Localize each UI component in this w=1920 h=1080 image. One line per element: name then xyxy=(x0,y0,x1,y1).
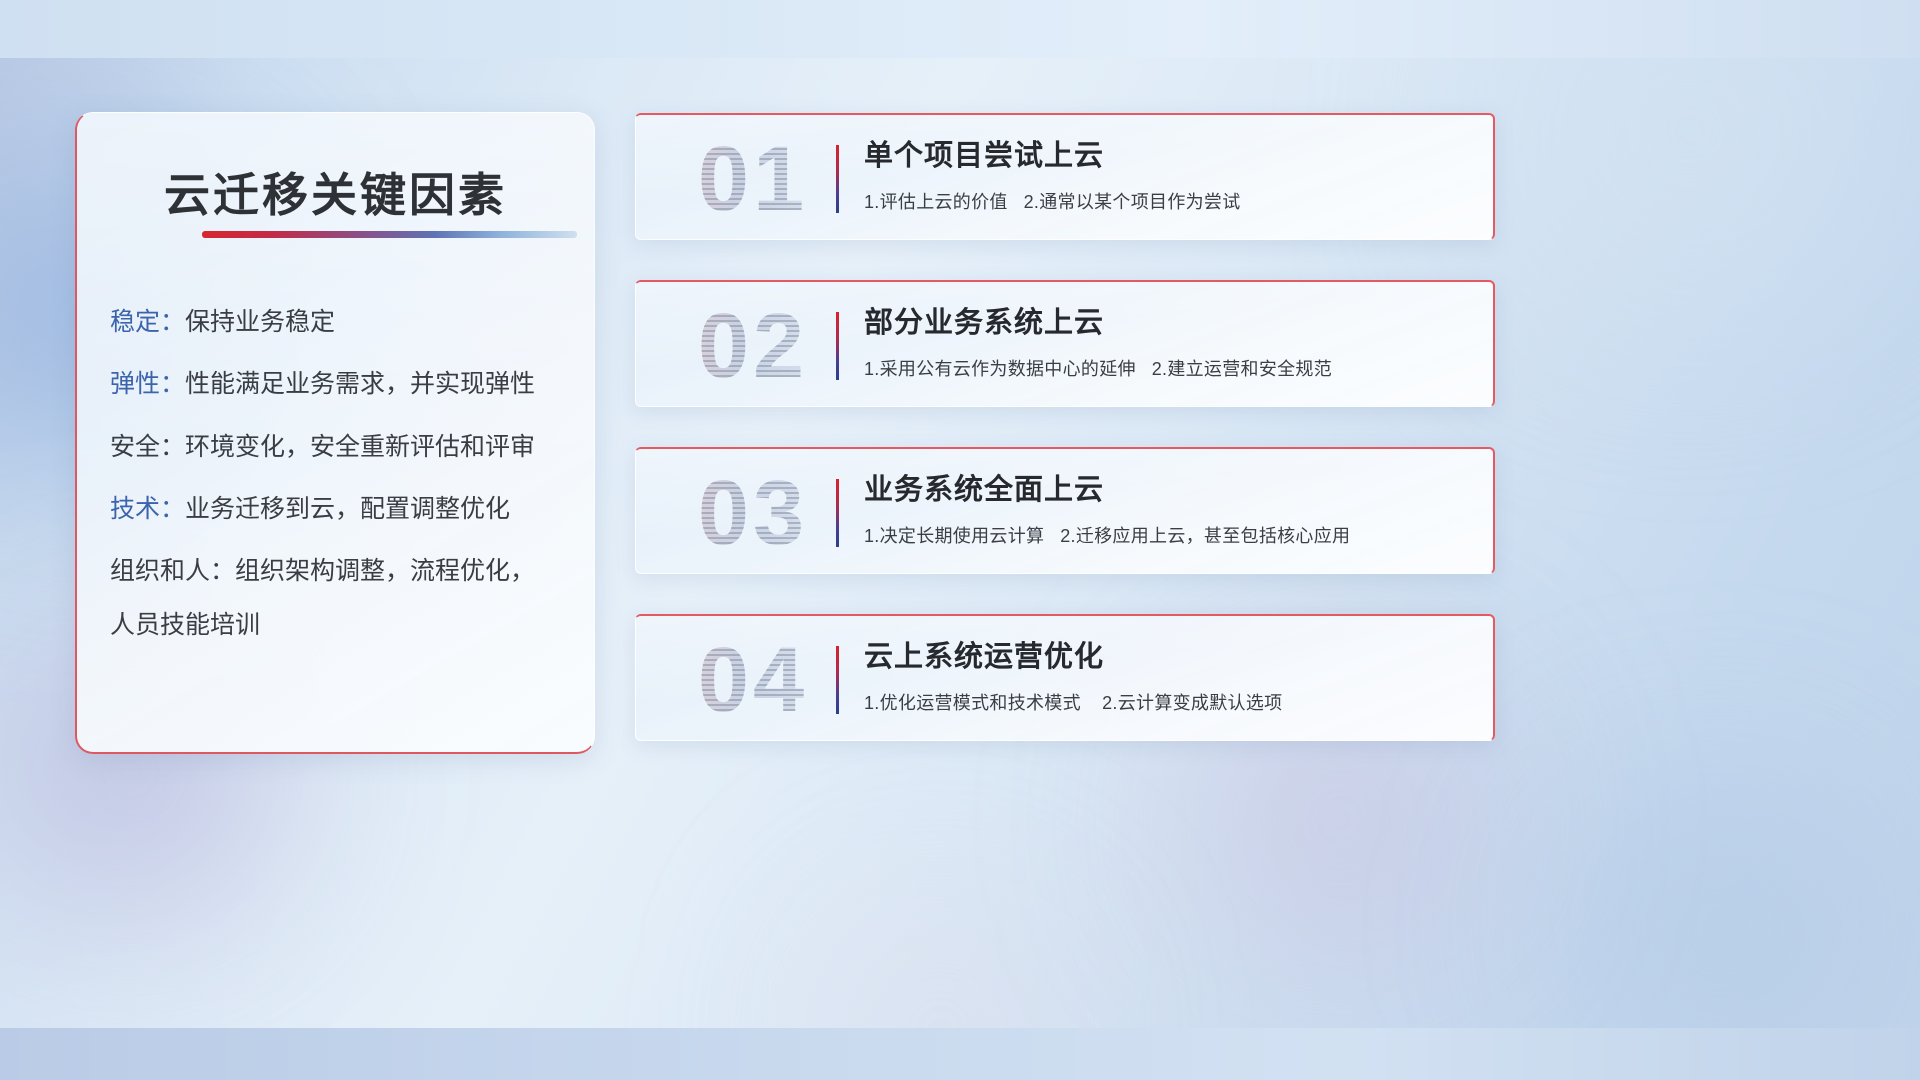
card-body: 部分业务系统上云 1.采用公有云作为数据中心的延伸 2.建立运营和安全规范 xyxy=(864,306,1473,381)
stage-number: 03 xyxy=(658,457,848,569)
key-factors-list: 稳定：保持业务稳定 弹性：性能满足业务需求，并实现弹性 安全：环境变化，安全重新… xyxy=(110,309,568,639)
list-item-label: 技术： xyxy=(110,495,185,523)
list-item-value: 环境变化，安全重新评估和评审 xyxy=(185,433,535,461)
card-divider-bar xyxy=(836,646,839,714)
list-item-label: 弹性： xyxy=(110,370,185,398)
list-item-value: 组织架构调整，流程优化， xyxy=(235,557,535,585)
list-item: 组织和人：组织架构调整，流程优化， xyxy=(110,558,568,584)
card-description: 1.采用公有云作为数据中心的延伸 2.建立运营和安全规范 xyxy=(864,355,1473,381)
list-item: 稳定：保持业务稳定 xyxy=(110,309,568,335)
list-item-value: 业务迁移到云，配置调整优化 xyxy=(185,495,510,523)
page-title: 云迁移关键因素 xyxy=(77,159,594,225)
card-divider-bar xyxy=(836,312,839,380)
card-description: 1.优化运营模式和技术模式 2.云计算变成默认选项 xyxy=(864,689,1473,715)
card-body: 单个项目尝试上云 1.评估上云的价值 2.通常以某个项目作为尝试 xyxy=(864,139,1473,214)
card-description: 1.评估上云的价值 2.通常以某个项目作为尝试 xyxy=(864,188,1473,214)
card-title: 云上系统运营优化 xyxy=(864,640,1473,675)
list-item: 安全：环境变化，安全重新评估和评审 xyxy=(110,434,568,460)
stage-card-04[interactable]: 04 04 云上系统运营优化 1.优化运营模式和技术模式 2.云计算变成默认选项 xyxy=(635,614,1495,741)
title-underline-rule xyxy=(202,231,577,238)
list-item-continuation: 人员技能培训 xyxy=(110,612,568,638)
list-item-label: 组织和人： xyxy=(110,557,235,585)
stage-card-02[interactable]: 02 02 部分业务系统上云 1.采用公有云作为数据中心的延伸 2.建立运营和安… xyxy=(635,280,1495,407)
card-title: 部分业务系统上云 xyxy=(864,306,1473,341)
stage-card-01[interactable]: 01 01 单个项目尝试上云 1.评估上云的价值 2.通常以某个项目作为尝试 xyxy=(635,113,1495,240)
stage-number: 04 xyxy=(658,624,848,736)
stage-card-03[interactable]: 03 03 业务系统全面上云 1.决定长期使用云计算 2.迁移应用上云，甚至包括… xyxy=(635,447,1495,574)
key-factors-panel: 云迁移关键因素 稳定：保持业务稳定 弹性：性能满足业务需求，并实现弹性 安全：环… xyxy=(75,112,595,754)
list-item: 技术：业务迁移到云，配置调整优化 xyxy=(110,496,568,522)
stage-number: 01 xyxy=(658,123,848,235)
list-item-label: 稳定： xyxy=(110,308,185,336)
list-item: 弹性：性能满足业务需求，并实现弹性 xyxy=(110,371,568,397)
card-divider-bar xyxy=(836,145,839,213)
migration-stage-cards: 01 01 单个项目尝试上云 1.评估上云的价值 2.通常以某个项目作为尝试 0… xyxy=(635,113,1495,741)
card-body: 业务系统全面上云 1.决定长期使用云计算 2.迁移应用上云，甚至包括核心应用 xyxy=(864,473,1473,548)
list-item-label: 安全： xyxy=(110,433,185,461)
list-item-value: 性能满足业务需求，并实现弹性 xyxy=(185,370,535,398)
slide-stage: 云迁移关键因素 稳定：保持业务稳定 弹性：性能满足业务需求，并实现弹性 安全：环… xyxy=(0,0,1920,1080)
card-title: 业务系统全面上云 xyxy=(864,473,1473,508)
card-body: 云上系统运营优化 1.优化运营模式和技术模式 2.云计算变成默认选项 xyxy=(864,640,1473,715)
card-description: 1.决定长期使用云计算 2.迁移应用上云，甚至包括核心应用 xyxy=(864,522,1473,548)
list-item-value: 保持业务稳定 xyxy=(185,308,335,336)
card-divider-bar xyxy=(836,479,839,547)
stage-number: 02 xyxy=(658,290,848,402)
card-title: 单个项目尝试上云 xyxy=(864,139,1473,174)
